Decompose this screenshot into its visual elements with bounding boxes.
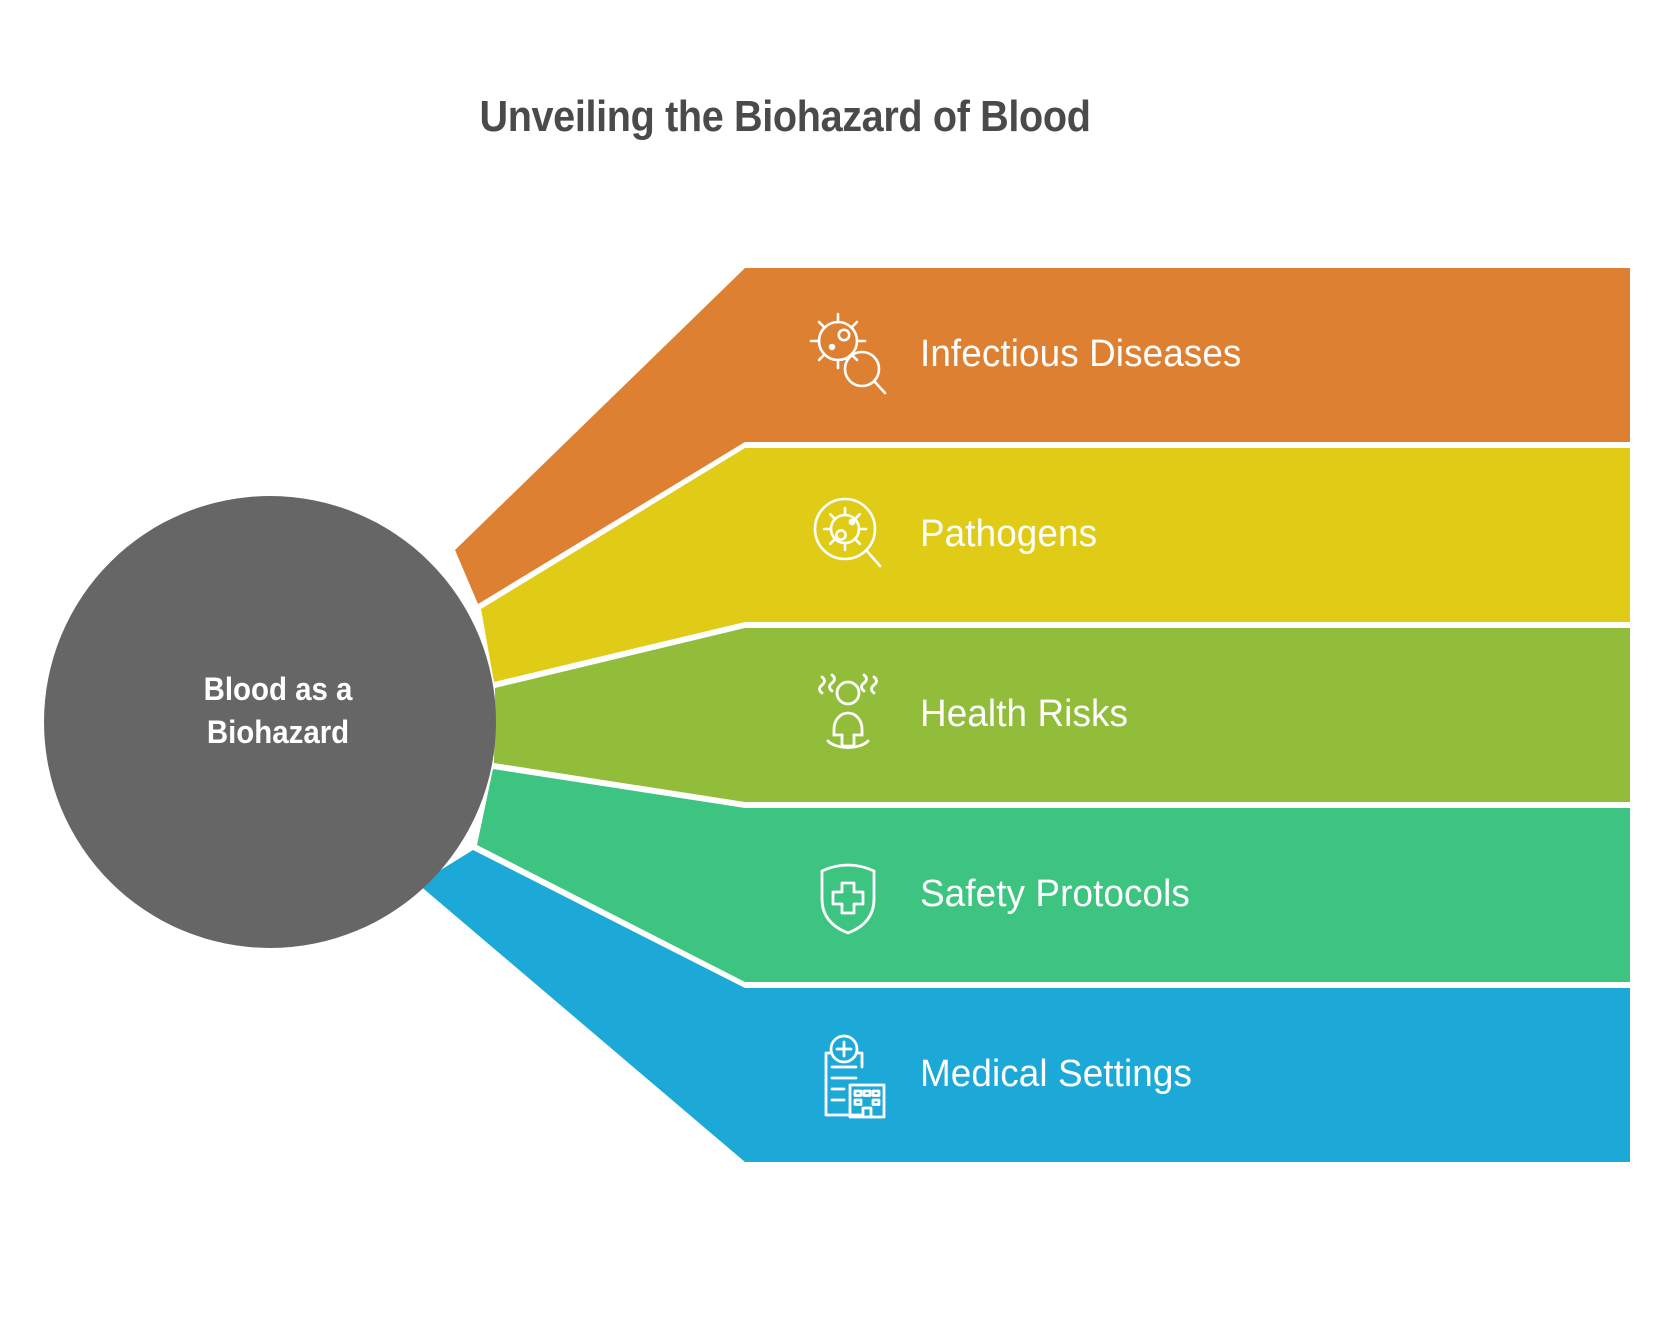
pathogen-magnifier-icon [800,487,896,583]
hospital-record-icon [800,1027,896,1123]
infographic-canvas: Unveiling the Biohazard of Blood Blood a… [0,0,1680,1344]
band-label-health-risks[interactable]: Health Risks [920,693,1128,736]
band-label-medical-settings[interactable]: Medical Settings [920,1053,1192,1096]
feverish-person-icon [800,667,896,763]
hub-label-line1: Blood as a [122,668,435,711]
shield-cross-icon [800,847,896,943]
hub-label: Blood as a Biohazard [122,668,435,754]
page-title: Unveiling the Biohazard of Blood [79,92,1492,142]
hub-label-line2: Biohazard [122,711,435,754]
band-label-pathogens[interactable]: Pathogens [920,513,1097,556]
band-label-safety-protocols[interactable]: Safety Protocols [920,873,1190,916]
band-label-infectious-diseases[interactable]: Infectious Diseases [920,333,1241,376]
germ-magnifier-icon [800,307,896,403]
